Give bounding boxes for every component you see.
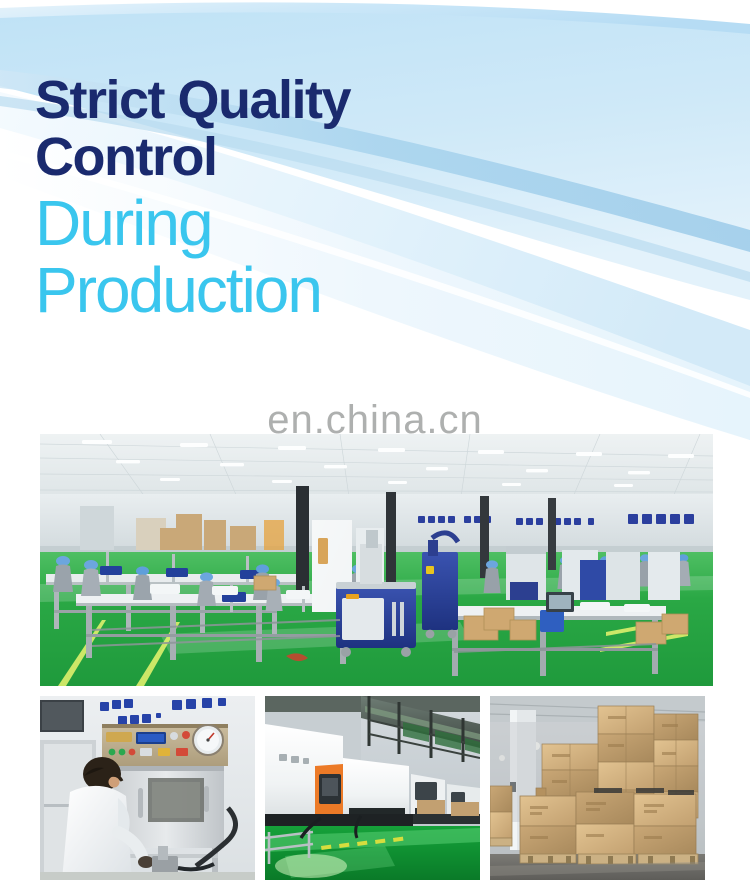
headline-line-1: Strict Quality [35,72,505,129]
thumbnail-test-chamber [40,696,255,880]
main-factory-photo [40,434,713,686]
warehouse-illustration [490,696,705,880]
headline-line-4: Production [35,257,505,324]
headline-line-3: During [35,190,505,257]
quality-control-banner: Strict Quality Control During Production [0,0,750,884]
test-chamber-illustration [40,696,255,880]
thumbnail-warehouse-cartons [490,696,705,880]
main-factory-illustration [40,434,713,686]
thumbnail-molding-machines [265,696,480,880]
headline-line-2: Control [35,129,505,186]
molding-machine-illustration [265,696,480,880]
headline-block: Strict Quality Control During Production [35,72,505,324]
